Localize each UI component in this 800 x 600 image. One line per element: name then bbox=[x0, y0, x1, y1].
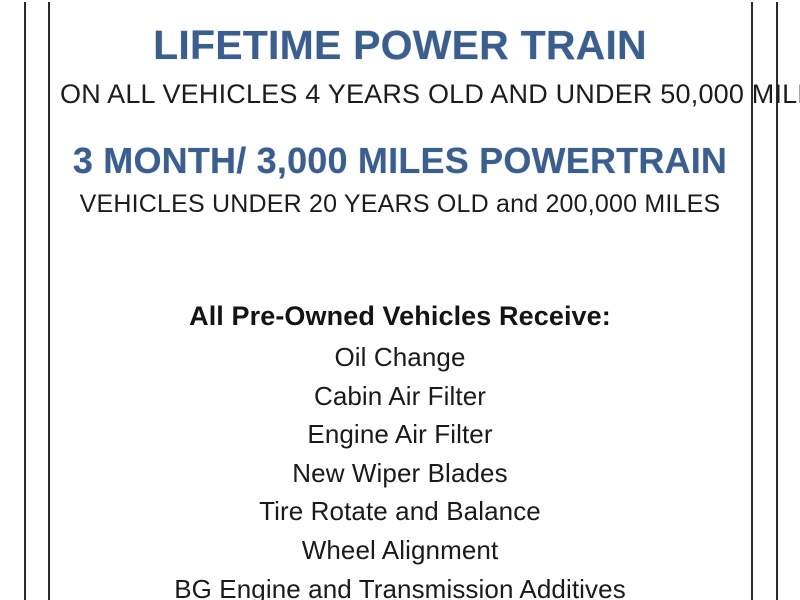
border-rule-left-outer bbox=[24, 2, 26, 600]
list-item: Cabin Air Filter bbox=[60, 377, 740, 416]
list-item: Tire Rotate and Balance bbox=[60, 492, 740, 531]
list-item: New Wiper Blades bbox=[60, 454, 740, 493]
list-item: Oil Change bbox=[60, 338, 740, 377]
border-rule-left-inner bbox=[48, 2, 50, 600]
offer-title-lifetime-powertrain: LIFETIME POWER TRAIN bbox=[60, 22, 740, 69]
offer-title-text: 3 MONTH/ 3,000 MILES POWERTRAIN bbox=[73, 140, 727, 181]
list-item: BG Engine and Transmission Additives bbox=[60, 570, 740, 600]
services-heading: All Pre-Owned Vehicles Receive: bbox=[60, 301, 740, 332]
offer-subtitle-text: VEHICLES UNDER 20 YEARS OLD and 200,000 … bbox=[80, 190, 721, 218]
services-list: Oil Change Cabin Air Filter Engine Air F… bbox=[60, 338, 740, 600]
offer-subtitle-3month-powertrain: VEHICLES UNDER 20 YEARS OLD and 200,000 … bbox=[60, 190, 740, 219]
list-item: Wheel Alignment bbox=[60, 531, 740, 570]
offer-subtitle-lifetime-powertrain: ON ALL VEHICLES 4 YEARS OLD AND UNDER 50… bbox=[60, 79, 740, 110]
flyer-canvas: LIFETIME POWER TRAIN ON ALL VEHICLES 4 Y… bbox=[0, 0, 800, 600]
offer-title-3month-powertrain: 3 MONTH/ 3,000 MILES POWERTRAIN bbox=[60, 140, 740, 182]
offer-title-text: LIFETIME POWER TRAIN bbox=[153, 22, 647, 68]
list-item: Engine Air Filter bbox=[60, 415, 740, 454]
offer-subtitle-text: ON ALL VEHICLES 4 YEARS OLD AND UNDER 50… bbox=[60, 79, 800, 109]
